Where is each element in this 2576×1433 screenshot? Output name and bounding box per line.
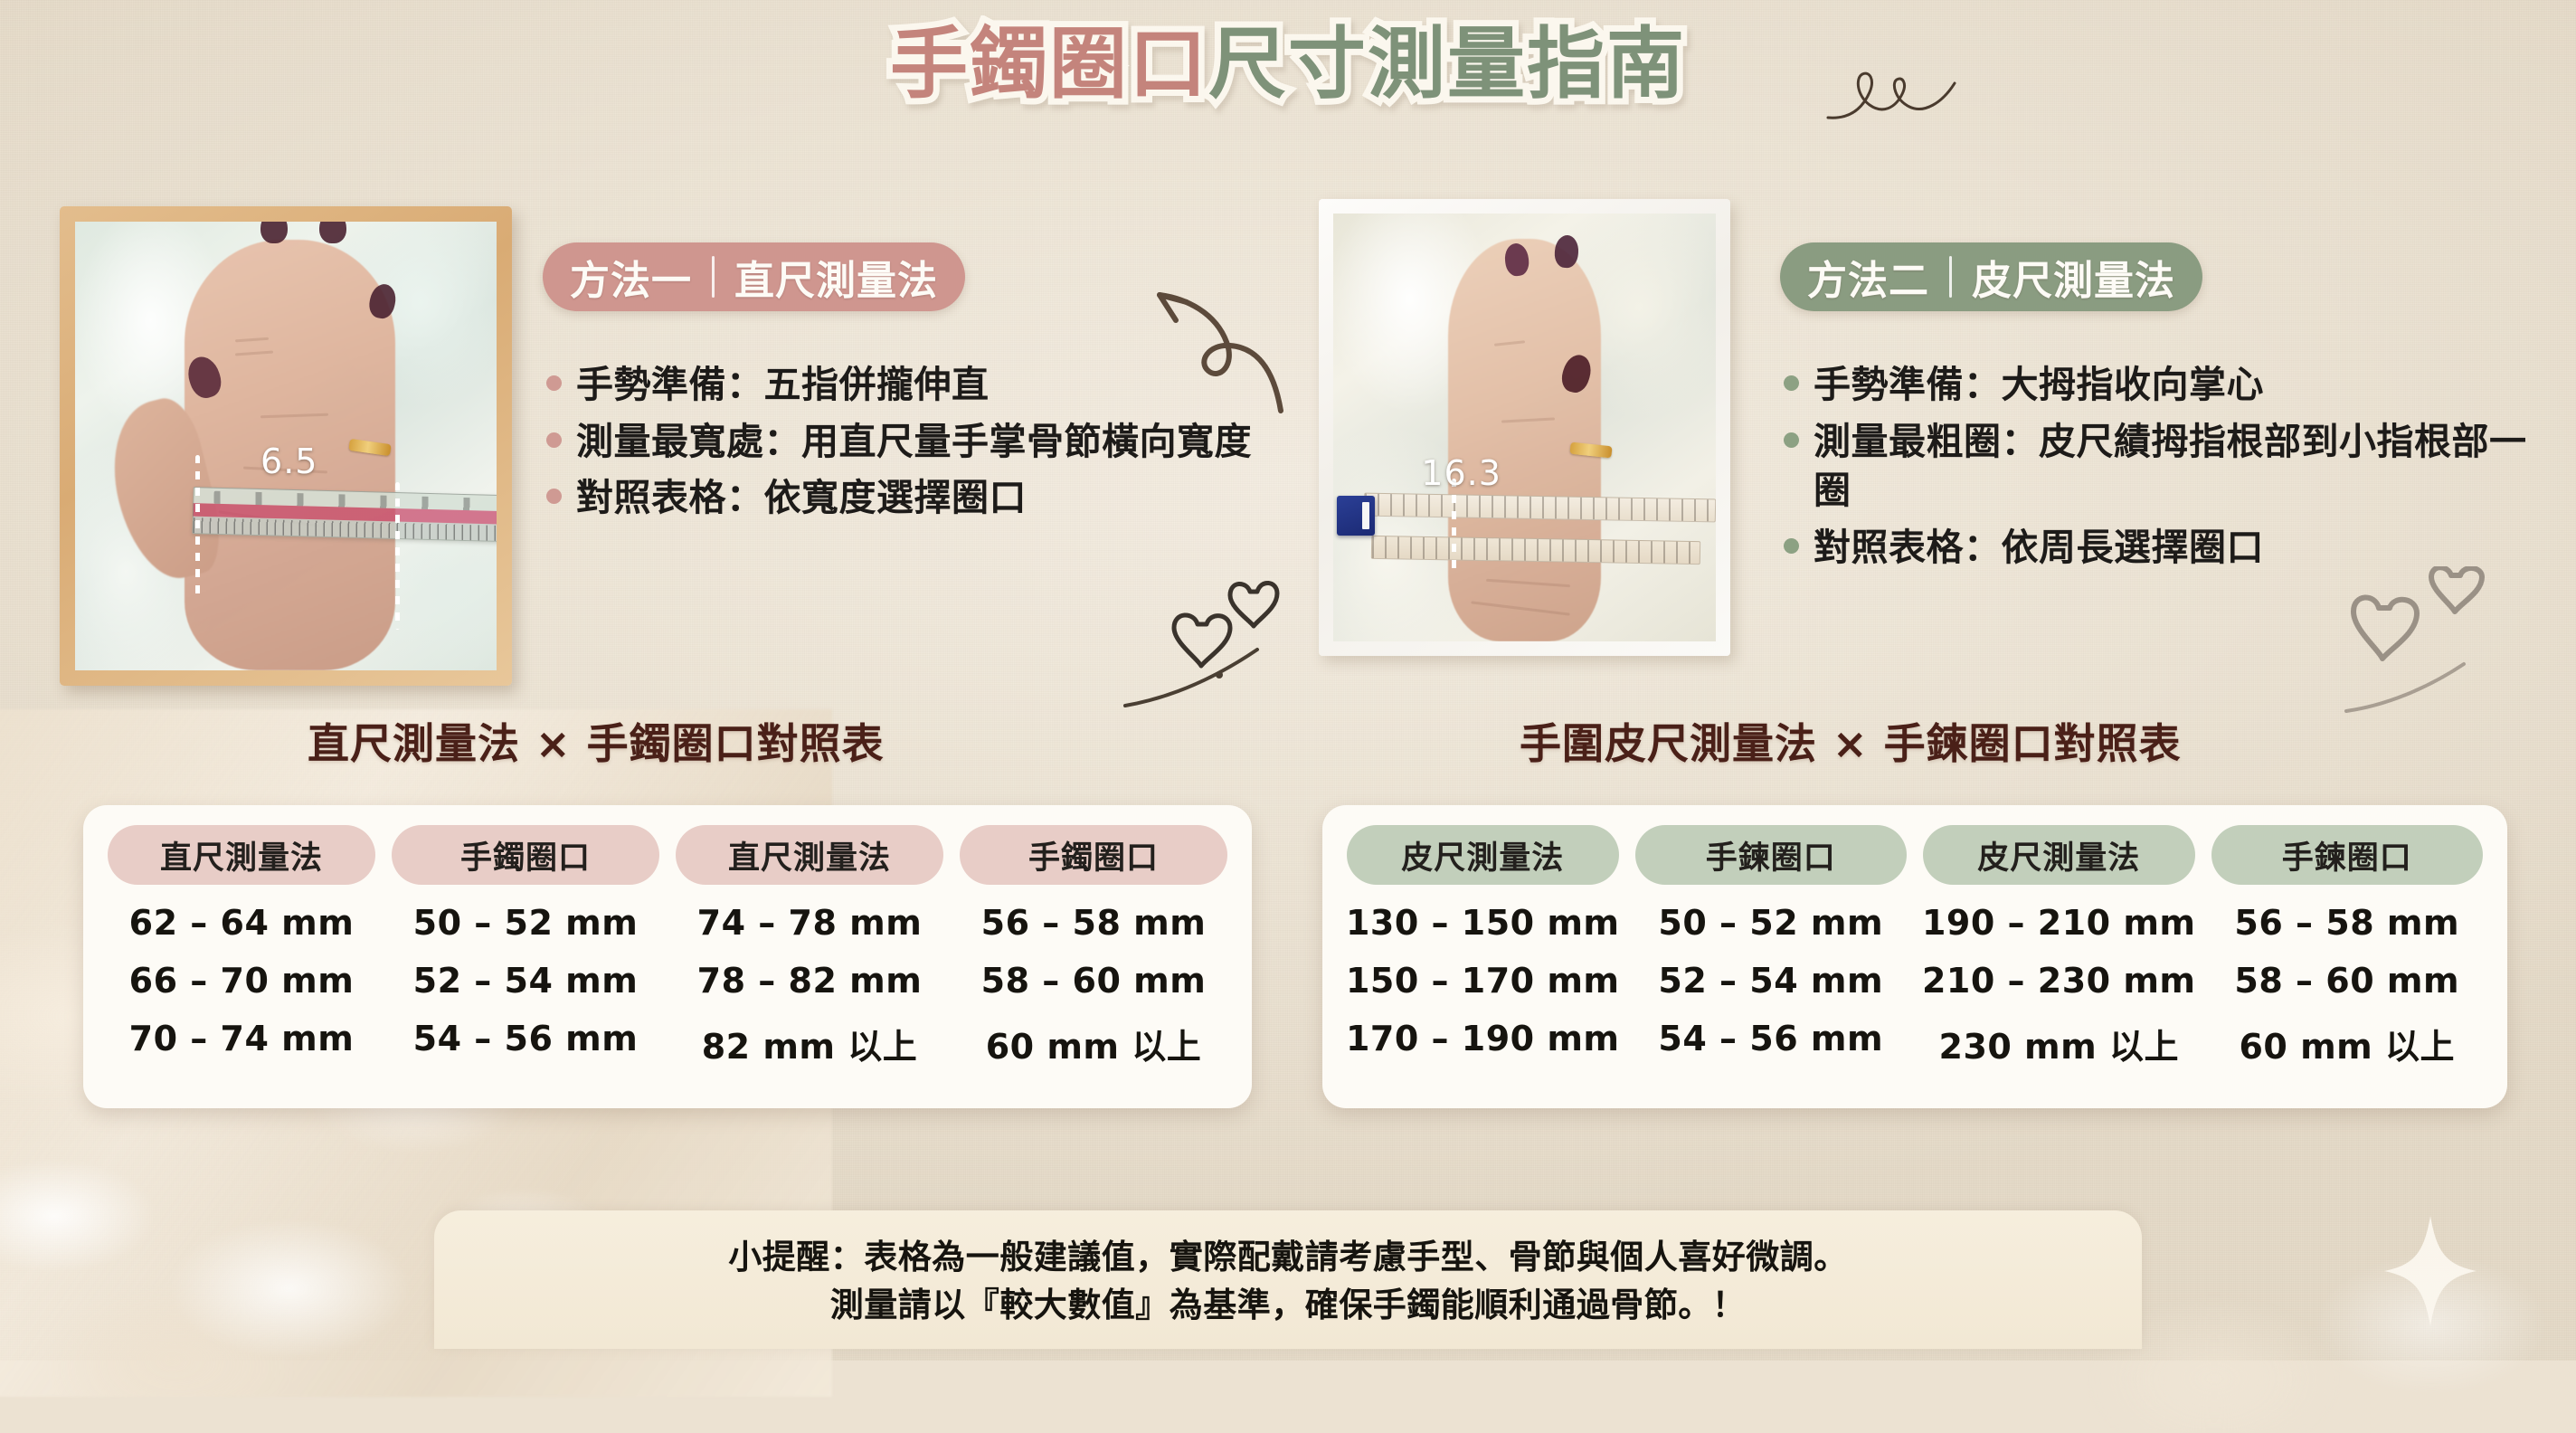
table-row: 66 – 70 mm 52 – 54 mm 78 – 82 mm 58 – 60… (99, 961, 1236, 1001)
method-one-badge: 方法一 直尺測量法 (543, 242, 965, 311)
bullet-dot-icon (546, 432, 562, 448)
photo-straight-ruler-method: 6.5 (60, 206, 512, 686)
table-cell: 54 – 56 mm (384, 1019, 668, 1068)
photo-left-inner: 6.5 (75, 222, 497, 670)
list-item: 測量最粗圈：皮尺績拇指根部到小指根部一圈 (1784, 417, 2543, 516)
bullet-text: 測量最寬處：用直尺量手掌骨節橫向寬度 (576, 417, 1252, 467)
table-cell: 230 mm 以上 (1915, 1019, 2203, 1068)
page-title: 手鐲圈口尺寸測量指南 (0, 25, 2576, 103)
measurement-value-left: 6.5 (260, 441, 317, 481)
badge-divider (1949, 256, 1952, 298)
bullet-dot-icon (546, 489, 562, 504)
table-cell: 56 – 58 mm (952, 903, 1236, 943)
table-row: 150 – 170 mm 52 – 54 mm 210 – 230 mm 58 … (1339, 961, 2491, 1001)
list-item: 手勢準備：大拇指收向掌心 (1784, 360, 2543, 410)
column-header: 手鍊圈口 (2211, 825, 2484, 885)
list-item: 對照表格：依周長選擇圈口 (1784, 523, 2543, 573)
table-header-row: 直尺測量法 手鐲圈口 直尺測量法 手鐲圈口 (99, 825, 1236, 885)
table-cell: 82 mm 以上 (668, 1019, 952, 1068)
table-cell: 50 – 52 mm (1627, 903, 1916, 943)
list-item: 對照表格：依寬度選擇圈口 (546, 473, 1261, 523)
method-two-badge: 方法二 皮尺測量法 (1780, 242, 2202, 311)
column-header: 手鍊圈口 (1635, 825, 1908, 885)
column-header: 直尺測量法 (108, 825, 375, 885)
ruler-illustration (193, 487, 497, 543)
table-cell: 130 – 150 mm (1339, 903, 1627, 943)
table-heading-right: 手圍皮尺測量法 × 手鍊圈口對照表 (1520, 711, 2182, 771)
method-two-number: 方法二 (1807, 248, 1929, 306)
column-header: 手鐲圈口 (960, 825, 1227, 885)
list-item: 手勢準備：五指併攏伸直 (546, 360, 1261, 410)
table-cell: 50 – 52 mm (384, 903, 668, 943)
table-cell: 60 mm 以上 (2203, 1019, 2492, 1068)
table-cell: 70 – 74 mm (99, 1019, 384, 1068)
table-header-row: 皮尺測量法 手鍊圈口 皮尺測量法 手鍊圈口 (1339, 825, 2491, 885)
ruler-numbers (214, 490, 497, 511)
table-cell: 58 – 60 mm (2203, 961, 2492, 1001)
table-cell: 150 – 170 mm (1339, 961, 1627, 1001)
table-row: 130 – 150 mm 50 – 52 mm 190 – 210 mm 56 … (1339, 903, 2491, 943)
photo-tape-measure-method: 16.3 (1319, 199, 1730, 656)
measure-guide-line-right (395, 482, 400, 631)
table-cell: 62 – 64 mm (99, 903, 384, 943)
title-text: 手鐲圈口尺寸測量指南 (890, 25, 1686, 103)
bullet-dot-icon (1784, 432, 1799, 448)
table-cell: 170 – 190 mm (1339, 1019, 1627, 1068)
footer-note: 小提醒：表格為一般建議值，實際配戴請考慮手型、骨節與個人喜好微調。 測量請以『較… (434, 1210, 2142, 1349)
table-cell: 60 mm 以上 (952, 1019, 1236, 1068)
tape-measure-clip-icon (1337, 496, 1375, 536)
bullet-dot-icon (546, 375, 562, 391)
bangle-size-table-card: 直尺測量法 手鐲圈口 直尺測量法 手鐲圈口 62 – 64 mm 50 – 52… (83, 805, 1252, 1108)
badge-divider (712, 256, 715, 298)
column-header: 皮尺測量法 (1923, 825, 2195, 885)
measurement-value-right: 16.3 (1421, 453, 1501, 493)
table-cell: 190 – 210 mm (1915, 903, 2203, 943)
bullet-text: 手勢準備：五指併攏伸直 (576, 360, 990, 410)
bullet-dot-icon (1784, 375, 1799, 391)
table-cell: 74 – 78 mm (668, 903, 952, 943)
bullet-text: 測量最粗圈：皮尺績拇指根部到小指根部一圈 (1814, 417, 2543, 516)
table-cell: 210 – 230 mm (1915, 961, 2203, 1001)
bullet-dot-icon (1784, 538, 1799, 554)
table-cell: 52 – 54 mm (1627, 961, 1916, 1001)
bracelet-size-table-card: 皮尺測量法 手鍊圈口 皮尺測量法 手鍊圈口 130 – 150 mm 50 – … (1322, 805, 2507, 1108)
table-cell: 56 – 58 mm (2203, 903, 2492, 943)
method-two-bullet-list: 手勢準備：大拇指收向掌心 測量最粗圈：皮尺績拇指根部到小指根部一圈 對照表格：依… (1784, 360, 2543, 579)
bullet-text: 手勢準備：大拇指收向掌心 (1814, 360, 2264, 410)
column-header: 手鐲圈口 (392, 825, 659, 885)
table-cell: 52 – 54 mm (384, 961, 668, 1001)
column-header: 皮尺測量法 (1347, 825, 1619, 885)
bullet-text: 對照表格：依周長選擇圈口 (1814, 523, 2264, 573)
method-two-title: 皮尺測量法 (1972, 248, 2175, 306)
note-line-one: 小提醒：表格為一般建議值，實際配戴請考慮手型、骨節與個人喜好微調。 (461, 1234, 2115, 1282)
table-row: 170 – 190 mm 54 – 56 mm 230 mm 以上 60 mm … (1339, 1019, 2491, 1068)
table-cell: 66 – 70 mm (99, 961, 384, 1001)
method-one-number: 方法一 (570, 248, 692, 306)
column-header: 直尺測量法 (676, 825, 943, 885)
table-heading-left: 直尺測量法 × 手鐲圈口對照表 (308, 711, 885, 771)
table-cell: 58 – 60 mm (952, 961, 1236, 1001)
title-part-two: 尺寸測量指南 (1208, 19, 1686, 109)
title-part-one: 手鐲圈口 (890, 19, 1208, 109)
list-item: 測量最寬處：用直尺量手掌骨節橫向寬度 (546, 417, 1261, 467)
photo-right-inner: 16.3 (1333, 214, 1716, 641)
note-line-two: 測量請以『較大數值』為基準，確保手鐲能順利通過骨節。！ (461, 1282, 2115, 1330)
method-one-title: 直尺測量法 (734, 248, 938, 306)
table-row: 62 – 64 mm 50 – 52 mm 74 – 78 mm 56 – 58… (99, 903, 1236, 943)
table-cell: 54 – 56 mm (1627, 1019, 1916, 1068)
palm-crease-lines (1333, 214, 1716, 641)
bullet-text: 對照表格：依寬度選擇圈口 (576, 473, 1027, 523)
table-cell: 78 – 82 mm (668, 961, 952, 1001)
method-one-bullet-list: 手勢準備：五指併攏伸直 測量最寬處：用直尺量手掌骨節橫向寬度 對照表格：依寬度選… (546, 360, 1261, 530)
table-row: 70 – 74 mm 54 – 56 mm 82 mm 以上 60 mm 以上 (99, 1019, 1236, 1068)
measure-guide-line-left (195, 455, 200, 599)
